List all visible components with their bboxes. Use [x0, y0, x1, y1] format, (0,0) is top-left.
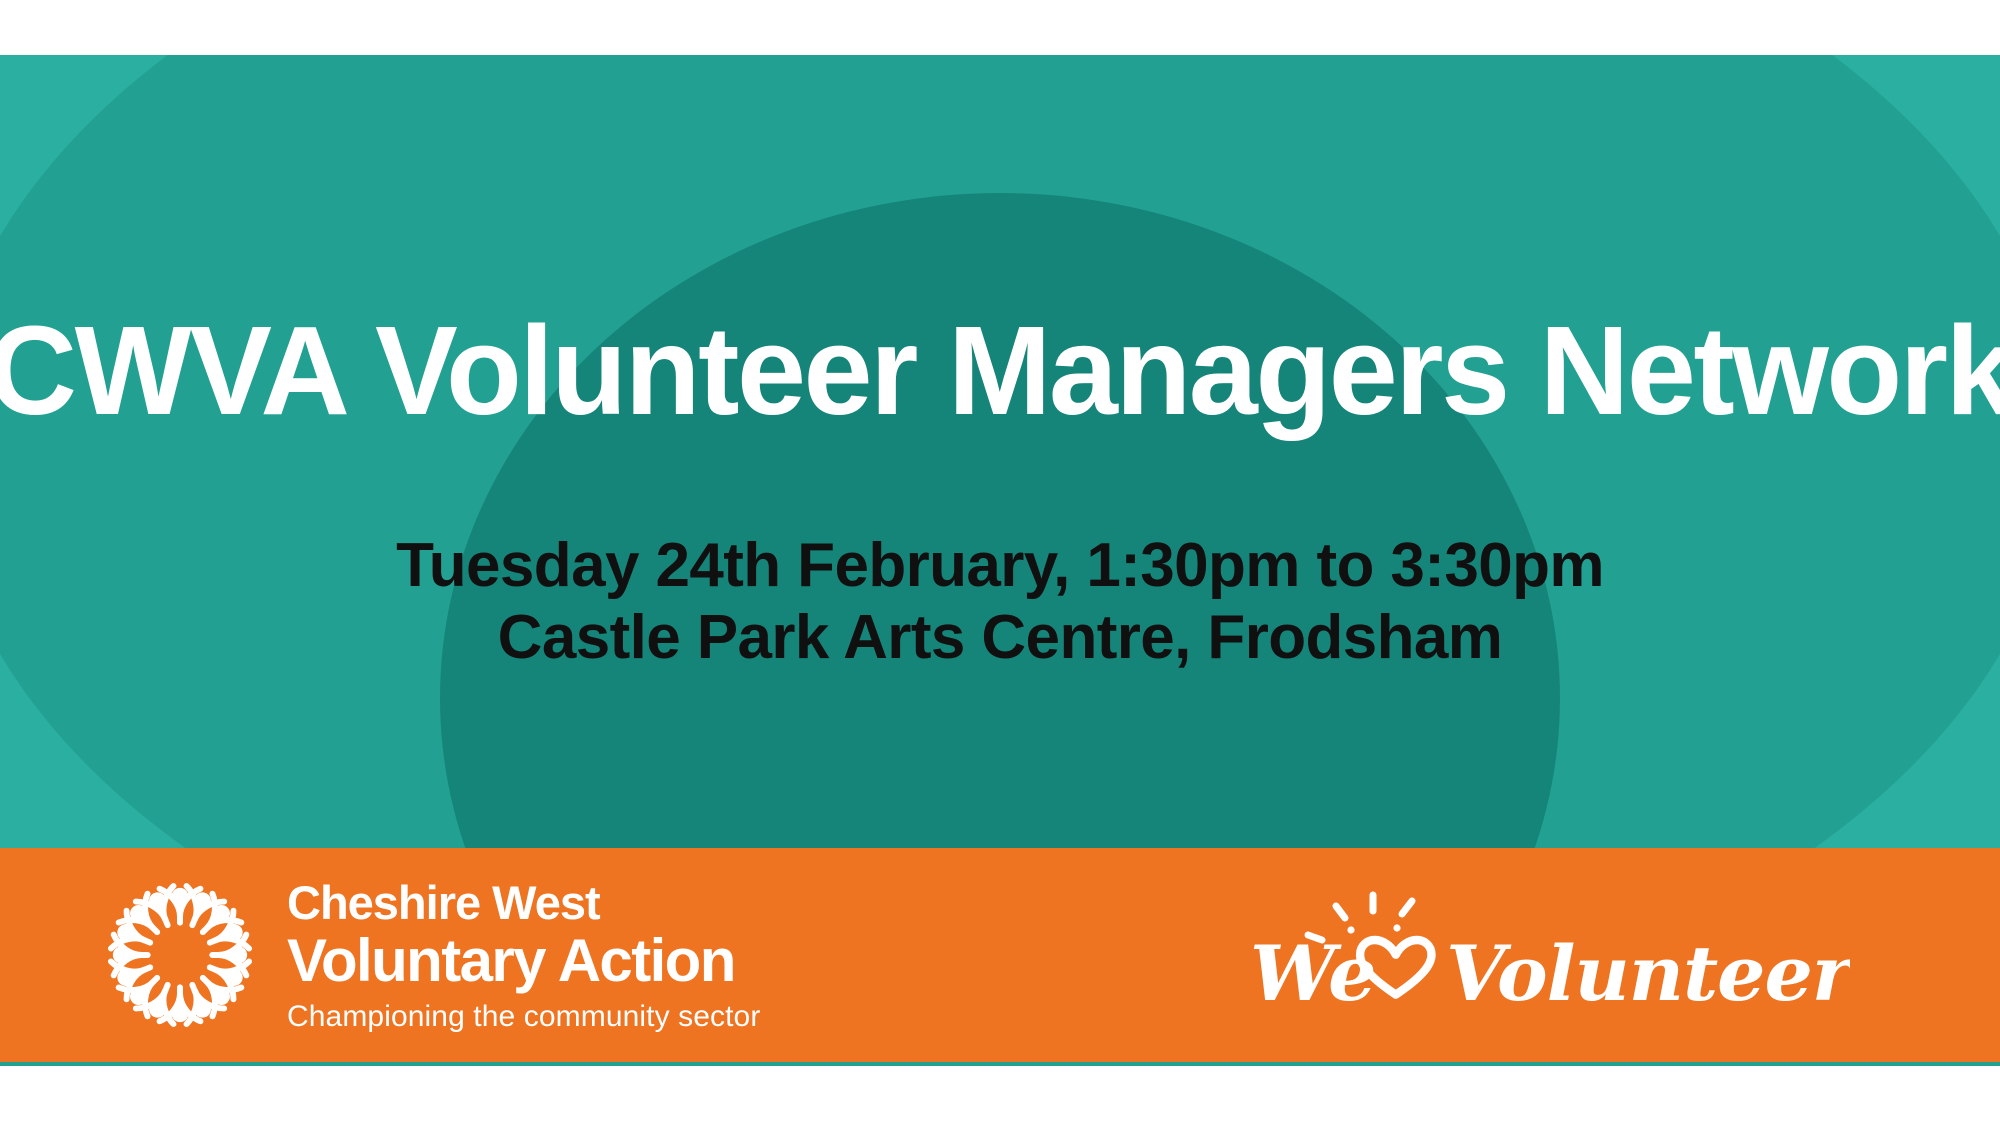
wlv-word-we: We [1250, 929, 1376, 1018]
event-details: Tuesday 24th February, 1:30pm to 3:30pm … [376, 530, 1624, 675]
cwva-name-line2: Voluntary Action [287, 931, 760, 991]
event-venue: Castle Park Arts Centre, Frodsham [396, 602, 1604, 675]
cwva-sunburst-people-icon [95, 870, 265, 1040]
we-love-volunteers-logo: We Volunteers [1250, 878, 1850, 1048]
cwva-tagline: Championing the community sector [287, 1002, 760, 1032]
page-title: CWVA Volunteer Managers Network [0, 307, 2000, 436]
footer-bottom-rule [0, 1062, 2000, 1066]
wlv-word-volunteers: Volunteers [1446, 929, 1850, 1018]
cwva-name-line1: Cheshire West [287, 879, 760, 926]
event-datetime: Tuesday 24th February, 1:30pm to 3:30pm [396, 530, 1604, 603]
headline-block: CWVA Volunteer Managers Network Tuesday … [0, 55, 2000, 848]
cwva-wordmark: Cheshire West Voluntary Action Championi… [287, 879, 760, 1032]
event-poster: CWVA Volunteer Managers Network Tuesday … [0, 0, 2000, 1125]
cwva-logo: Cheshire West Voluntary Action Championi… [95, 870, 760, 1040]
